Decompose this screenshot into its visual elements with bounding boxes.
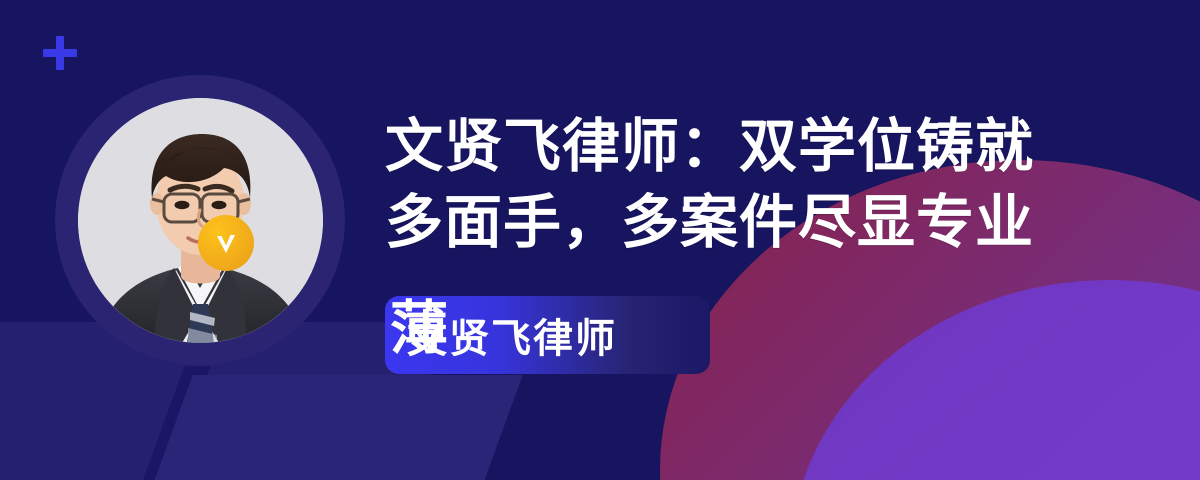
plus-icon	[43, 36, 77, 70]
lawyer-name-label: 文贤飞律师	[407, 306, 617, 364]
headline-line-2: 多面手，多案件尽显专业	[385, 184, 1175, 260]
headline-block: 文贤飞律师：双学位铸就 多面手，多案件尽显专业	[385, 108, 1175, 260]
lawyer-name-pill[interactable]: 文贤飞律师	[385, 296, 710, 374]
avatar-photo	[78, 98, 323, 343]
verified-badge-icon	[198, 215, 254, 271]
headline-line-1: 文贤飞律师：双学位铸就	[385, 108, 1175, 184]
promo-banner: 文贤飞律师：双学位铸就 多面手，多案件尽显专业 文贤飞律师 薄	[0, 0, 1200, 480]
avatar	[55, 75, 345, 365]
diagonal-shape-mid	[127, 375, 523, 480]
